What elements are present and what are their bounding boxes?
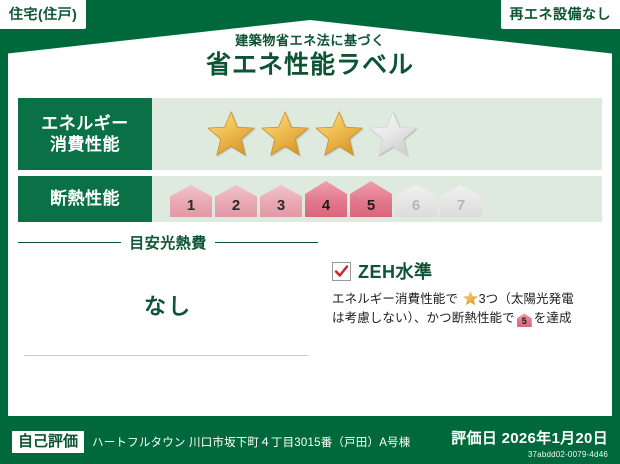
heading-rule-right	[215, 242, 318, 243]
energy-performance-label: 住宅(住戸) 再エネ設備なし 建築物省エネ法に基づく 省エネ性能ラベル エネルギ…	[0, 0, 620, 464]
label-body: エネルギー 消費性能	[8, 90, 612, 416]
zeh-desc-part3: を達成	[534, 311, 572, 325]
star-icon	[206, 110, 256, 158]
footer-left: 自己評価 ハートフルタウン 川口市坂下町４丁目3015番（戸田）A号棟	[12, 424, 410, 453]
lower-section: 目安光熱費 なし ZEH水準 エネルギー消費性能で	[18, 228, 602, 364]
insulation-performance-label: 断熱性能	[18, 176, 152, 222]
star-icon	[260, 110, 310, 158]
energy-star-rating	[152, 98, 602, 170]
insulation-level-1: 1	[170, 185, 212, 217]
insulation-level-2: 2	[215, 185, 257, 217]
zeh-title: ZEH水準	[358, 258, 433, 284]
zeh-desc-part1: エネルギー消費性能で	[332, 292, 458, 306]
zeh-title-row: ZEH水準	[332, 258, 600, 284]
insulation-level-3: 3	[260, 185, 302, 217]
heading-rule-left	[18, 242, 121, 243]
zeh-box: ZEH水準 エネルギー消費性能で 3つ（太陽光発電 は考慮しない）、かつ断熱性能…	[318, 228, 602, 364]
house-icon-inline: 5	[517, 313, 532, 327]
star-icon	[314, 110, 364, 158]
footer-right: 評価日 2026年1月20日 37abdd02-0079-4d46	[451, 424, 608, 459]
utility-cost-box: 目安光熱費 なし	[18, 228, 318, 364]
zeh-desc-part2: は考慮しない）、かつ断熱性能で	[332, 311, 515, 325]
utility-cost-underline	[24, 355, 308, 356]
insulation-level-5: 5	[350, 181, 392, 217]
utility-cost-value: なし	[18, 289, 318, 321]
evaluation-date: 評価日 2026年1月20日	[451, 427, 608, 448]
label-title-block: 建築物省エネ法に基づく 省エネ性能ラベル	[0, 34, 620, 82]
renewable-equipment-tag: 再エネ設備なし	[501, 0, 620, 29]
zeh-desc-star-count: 3つ（太陽光発電	[479, 292, 574, 306]
star-icon-empty	[368, 110, 418, 158]
check-icon	[334, 264, 349, 279]
insulation-level-7: 7	[440, 185, 482, 217]
evaluation-id: 37abdd02-0079-4d46	[451, 450, 608, 459]
label-footer: 自己評価 ハートフルタウン 川口市坂下町４丁目3015番（戸田）A号棟 評価日 …	[0, 416, 620, 464]
zeh-description: エネルギー消費性能で 3つ（太陽光発電 は考慮しない）、かつ断熱性能で5を達成	[332, 290, 600, 329]
label-subtitle: 建築物省エネ法に基づく	[0, 34, 620, 48]
utility-cost-heading: 目安光熱費	[18, 232, 318, 253]
insulation-scale: 1 2 3 4 5 6 7	[152, 176, 602, 222]
property-address: ハートフルタウン 川口市坂下町４丁目3015番（戸田）A号棟	[92, 434, 410, 450]
energy-label-line2: 消費性能	[50, 135, 120, 154]
zeh-checkbox[interactable]	[332, 262, 351, 281]
self-evaluation-badge: 自己評価	[12, 431, 84, 453]
energy-label-line1: エネルギー	[41, 114, 129, 133]
label-title: 省エネ性能ラベル	[0, 50, 620, 81]
insulation-level-6: 6	[395, 185, 437, 217]
insulation-level-4: 4	[305, 181, 347, 217]
energy-performance-label: エネルギー 消費性能	[18, 98, 152, 170]
insulation-performance-row: 断熱性能 1 2 3 4 5 6 7	[18, 176, 602, 222]
utility-cost-heading-text: 目安光熱費	[129, 232, 207, 253]
building-type-tag: 住宅(住戸)	[0, 0, 86, 29]
star-icon-inline	[463, 291, 478, 306]
energy-performance-row: エネルギー 消費性能	[18, 98, 602, 170]
